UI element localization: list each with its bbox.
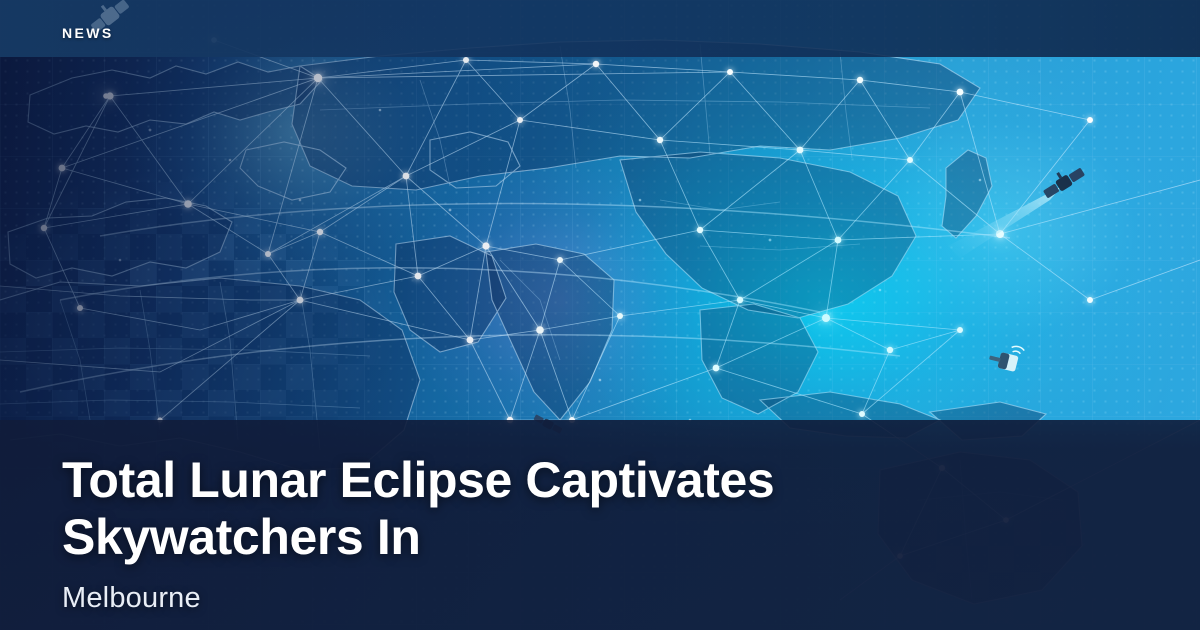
satellite-trail (948, 186, 1062, 258)
kicker-label: NEWS (62, 25, 114, 41)
top-banner (0, 0, 1200, 57)
page-title: Total Lunar Eclipse Captivates Skywatche… (62, 452, 1062, 566)
satellite-dish-icon (988, 341, 1025, 373)
satellite-icon (1039, 161, 1086, 200)
page-subtitle: Melbourne (62, 582, 201, 615)
signal-waves-icon (1011, 345, 1025, 354)
news-card: NEWS Total Lunar Eclipse Captivates Skyw… (0, 0, 1200, 630)
